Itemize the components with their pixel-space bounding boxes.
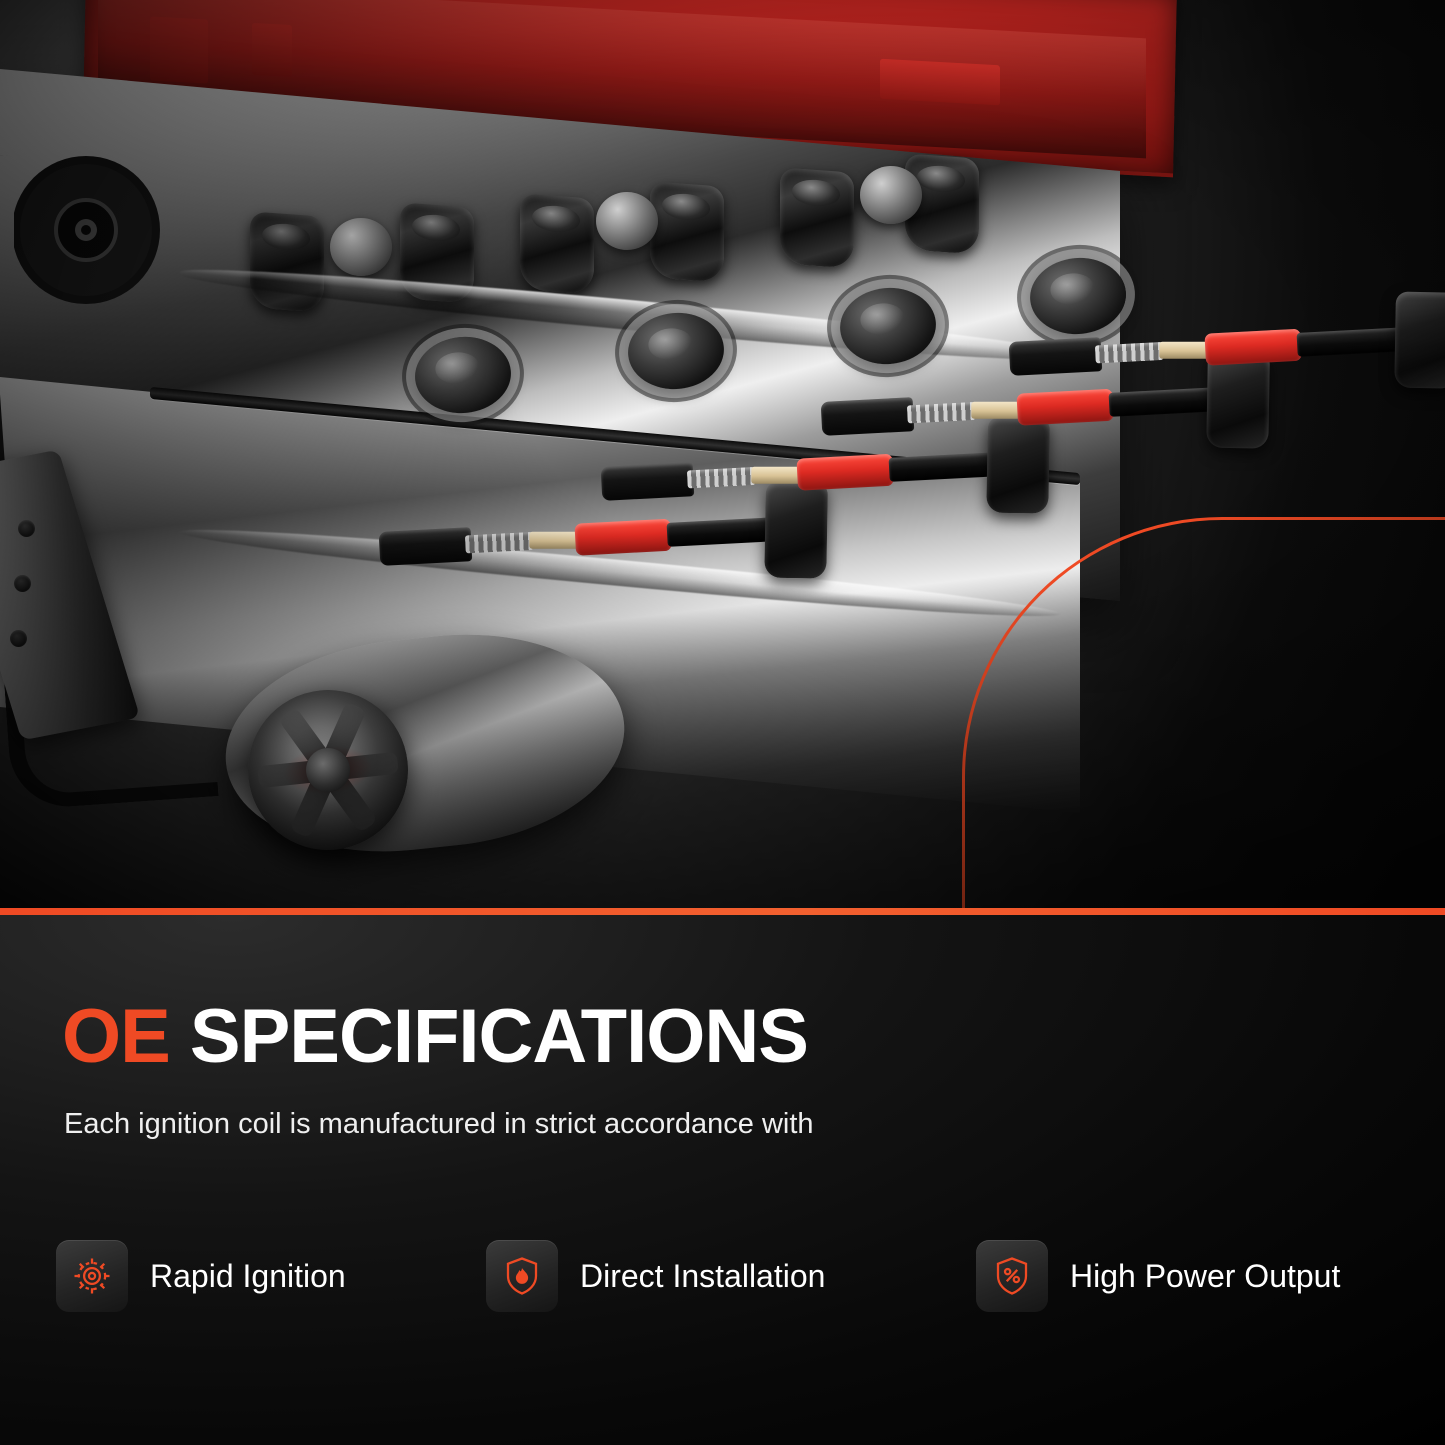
red-cover-tab-1 (150, 16, 208, 83)
coil-connector-head (986, 417, 1050, 514)
cam-lobe-3 (860, 166, 922, 224)
rocker-arm-4 (650, 181, 724, 282)
feature-label: High Power Output (1070, 1258, 1340, 1295)
coil-connector-head (1206, 352, 1270, 449)
coil-boot (1009, 337, 1103, 376)
panel-title-rest: SPECIFICATIONS (170, 994, 808, 1079)
coil-red-segment (1016, 389, 1114, 426)
gear-icon (56, 1240, 128, 1312)
rocker-arm-3 (520, 193, 594, 294)
feature-item-high-power-output: High Power Output (976, 1240, 1406, 1312)
product-infographic-poster: OE SPECIFICATIONS Each ignition coil is … (0, 0, 1445, 1445)
percent-shield-icon (976, 1240, 1048, 1312)
feature-item-direct-installation: Direct Installation (486, 1240, 976, 1312)
coil-red-segment (1204, 329, 1302, 366)
panel-title-accent: OE (62, 994, 170, 1079)
panel-subtitle: Each ignition coil is manufactured in st… (64, 1108, 814, 1141)
rocker-arm-5 (780, 167, 854, 268)
cam-lobe-2 (596, 192, 658, 250)
feature-item-rapid-ignition: Rapid Ignition (56, 1240, 486, 1312)
feature-label: Direct Installation (580, 1258, 825, 1295)
coil-spring (907, 402, 976, 424)
coil-connector-head (1394, 292, 1445, 389)
coil-shaft (1297, 327, 1408, 357)
coil-boot (821, 397, 915, 436)
coil-spring (687, 467, 756, 489)
cam-lobe-1 (330, 218, 392, 276)
coil-shaft (1109, 387, 1220, 417)
timing-gear-icon (14, 140, 164, 320)
coil-connector-head (764, 482, 828, 579)
hero-engine-photo (0, 0, 1445, 910)
orange-divider-bar (0, 908, 1445, 915)
coil-boot (601, 462, 695, 501)
feature-list: Rapid Ignition Direct Installation (56, 1240, 1406, 1312)
coil-spring (465, 532, 534, 554)
rocker-arm-1 (250, 211, 324, 312)
coil-red-segment (574, 519, 672, 556)
panel-title: OE SPECIFICATIONS (62, 993, 808, 1080)
flame-shield-icon (486, 1240, 558, 1312)
bracket-hole-2 (14, 575, 31, 592)
red-cover-tab-3 (880, 59, 1000, 105)
coil-boot (379, 527, 473, 566)
bracket-hole-1 (18, 520, 35, 537)
coil-spring (1095, 342, 1164, 364)
feature-label: Rapid Ignition (150, 1258, 346, 1295)
red-cover-tab-2 (252, 23, 292, 77)
bracket-hole-3 (10, 630, 27, 647)
specifications-panel: OE SPECIFICATIONS Each ignition coil is … (0, 915, 1445, 1445)
coil-red-segment (796, 454, 894, 491)
